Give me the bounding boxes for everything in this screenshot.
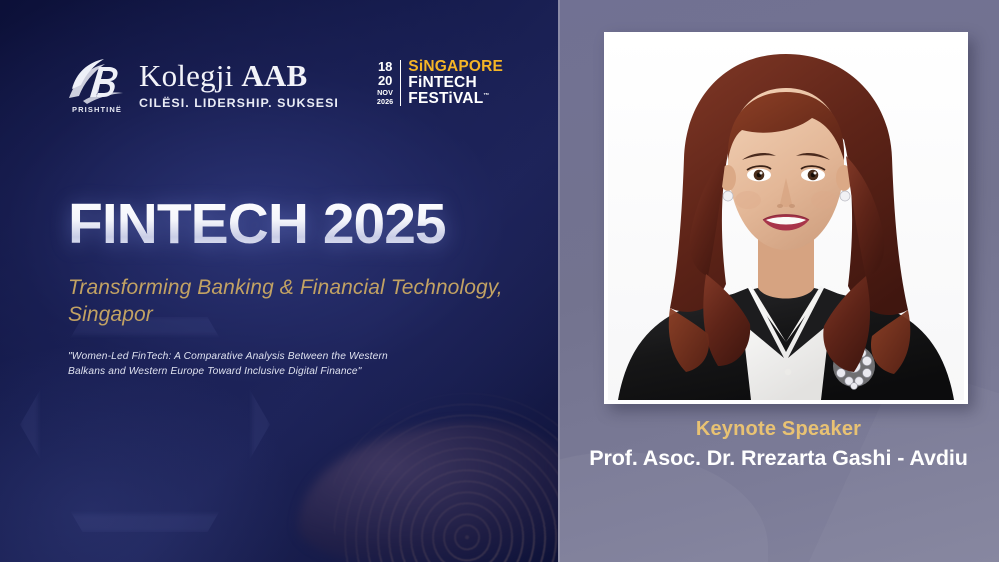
sff-date-stack: 18 20 NOV 2026 — [377, 60, 401, 105]
left-content-panel: PRISHTINË Kolegji AAB CILËSI. LIDERSHIP.… — [0, 0, 558, 562]
speaker-info: Keynote Speaker Prof. Asoc. Dr. Rrezarta… — [558, 418, 999, 471]
kolegji-aab-logo: PRISHTINË Kolegji AAB CILËSI. LIDERSHIP.… — [66, 55, 339, 113]
sff-line-fintech: FiNTECH — [408, 75, 503, 91]
sff-festival-text: FESTiVAL — [408, 90, 483, 107]
sff-line-festival: FESTiVAL™ — [408, 91, 503, 107]
sff-month: NOV — [377, 89, 393, 96]
avatar — [608, 36, 964, 400]
aab-shield-icon: PRISHTINË — [66, 55, 128, 113]
sff-wordmark: SiNGAPORE FiNTECH FESTiVAL™ — [408, 59, 503, 106]
speaker-photo-frame — [604, 32, 968, 404]
singapore-fintech-festival-logo: 18 20 NOV 2026 SiNGAPORE FiNTECH FESTiVA… — [377, 59, 503, 106]
page-title: FINTECH 2025 — [68, 196, 528, 253]
presentation-slide: PRISHTINË Kolegji AAB CILËSI. LIDERSHIP.… — [0, 0, 999, 562]
speaker-name: Prof. Asoc. Dr. Rrezarta Gashi - Avdiu — [558, 446, 999, 471]
trademark-symbol: ™ — [483, 93, 489, 99]
aab-name-kolegji: Kolegji — [139, 58, 241, 93]
aab-wordmark: Kolegji AAB CILËSI. LIDERSHIP. SUKSESI — [139, 60, 339, 113]
aab-name-aab: AAB — [241, 58, 307, 93]
aab-name: Kolegji AAB — [139, 60, 339, 91]
speaker-role: Keynote Speaker — [558, 418, 999, 441]
sff-day-from: 18 — [378, 60, 392, 73]
sff-year: 2026 — [377, 98, 393, 105]
aab-tagline: CILËSI. LIDERSHIP. SUKSESI — [139, 96, 339, 110]
sff-day-to: 20 — [378, 74, 392, 87]
logo-row: PRISHTINË Kolegji AAB CILËSI. LIDERSHIP.… — [66, 55, 503, 113]
right-speaker-panel: Keynote Speaker Prof. Asoc. Dr. Rrezarta… — [558, 0, 999, 562]
fingertip-artwork — [298, 422, 558, 562]
page-subtitle: Transforming Banking & Financial Technol… — [68, 275, 528, 329]
aab-prishtine-label: PRISHTINË — [72, 105, 122, 114]
headline-block: FINTECH 2025 Transforming Banking & Fina… — [68, 196, 528, 380]
sff-line-singapore: SiNGAPORE — [408, 59, 503, 75]
abstract-text: "Women-Led FinTech: A Comparative Analys… — [68, 349, 388, 380]
